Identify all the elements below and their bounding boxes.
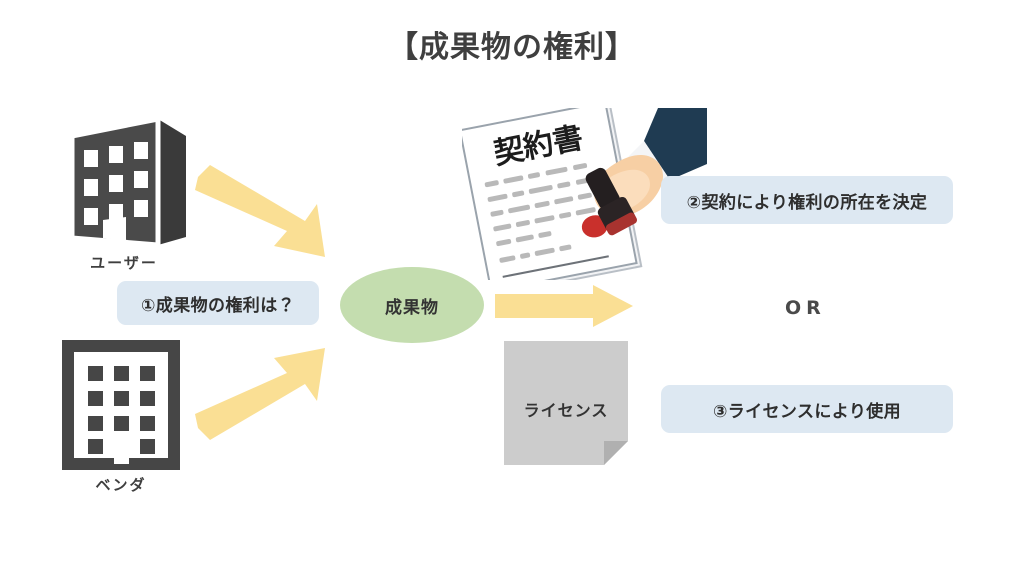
page-title: 【成果物の権利】 (0, 22, 1024, 66)
deliverable-label: 成果物 (385, 293, 439, 318)
callout-contract-text: ②契約により権利の所在を決定 (687, 188, 928, 213)
callout-license: ③ライセンスにより使用 (661, 385, 953, 433)
arrow-vendor-to-deliverable (195, 340, 335, 444)
license-note-label: ライセンス (506, 397, 626, 421)
license-note: ライセンス (504, 341, 628, 469)
office-building-outline-icon (62, 340, 180, 470)
callout-question: ①成果物の権利は？ (117, 281, 319, 325)
actor-user-label: ユーザー (44, 252, 204, 273)
arrow-up-right-icon (195, 340, 335, 440)
arrow-down-right-icon (195, 165, 335, 265)
callout-question-text: ①成果物の権利は？ (141, 291, 295, 316)
diagram-canvas: 【成果物の権利】 ユーザー (0, 0, 1024, 576)
callout-license-text: ③ライセンスにより使用 (713, 397, 901, 422)
arrow-deliverable-to-options (495, 285, 635, 331)
arrow-user-to-deliverable (195, 165, 335, 269)
or-separator: OR (785, 297, 826, 319)
actor-vendor-label: ベンダ (41, 474, 201, 495)
office-building-3d-icon (62, 112, 187, 252)
callout-contract: ②契約により権利の所在を決定 (661, 176, 953, 224)
actor-vendor: ベンダ (62, 340, 180, 474)
arrow-right-icon (495, 285, 635, 327)
actor-user: ユーザー (62, 112, 187, 256)
